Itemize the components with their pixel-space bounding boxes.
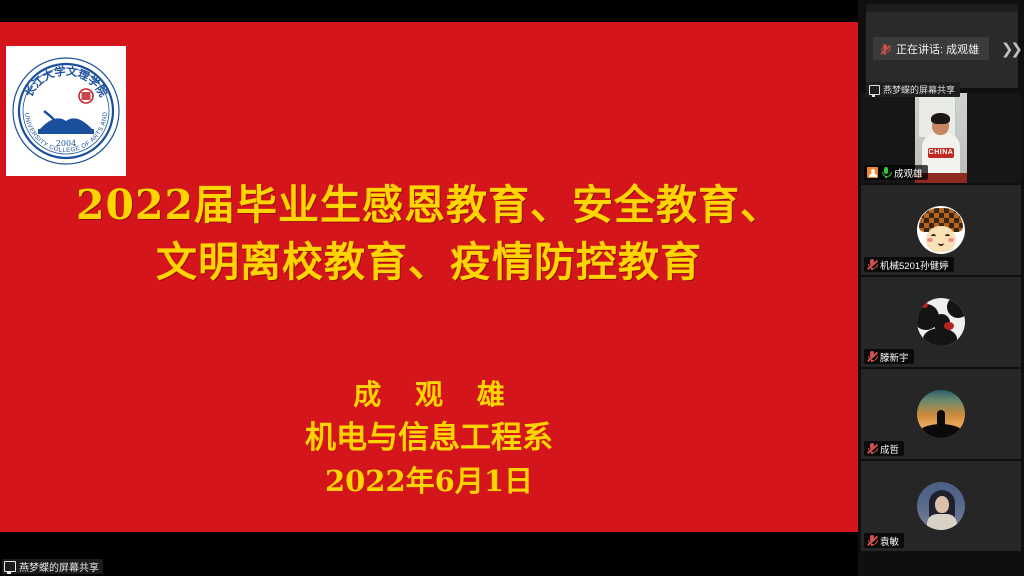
- participant-name-chip: 成观雄: [864, 165, 928, 180]
- participant-tile-yuanmin[interactable]: 袁敏: [861, 461, 1021, 551]
- mic-muted-icon: [880, 43, 890, 54]
- presentation-slide: 长江大学文理学院 YANGTZE UNIVERSITY COLLEGE OF A…: [0, 22, 858, 532]
- participant-name-label: 机械5201孙健婷: [880, 258, 949, 272]
- avatar: [917, 390, 965, 438]
- participant-tile-tengxinyu[interactable]: 滕新宇: [861, 277, 1021, 367]
- svg-text:2004: 2004: [56, 139, 76, 148]
- mic-muted-icon[interactable]: [867, 259, 877, 271]
- participant-name-label: 滕新宇: [880, 350, 909, 364]
- panel-screen-share-indicator[interactable]: 燕梦蝶的屏幕共享: [866, 82, 960, 97]
- slide-subtitle-block: 成 观 雄 机电与信息工程系 2022年6月1日: [0, 374, 858, 502]
- participant-name-chip: 成哲: [864, 441, 904, 456]
- participant-tile-sunjianting[interactable]: 机械5201孙健婷: [861, 185, 1021, 275]
- slide-title: 2022届毕业生感恩教育、安全教育、 文明离校教育、疫情防控教育: [0, 177, 858, 291]
- participant-name-label: 袁敏: [880, 534, 899, 548]
- mic-muted-icon[interactable]: [867, 443, 877, 455]
- monitor-share-icon: [4, 561, 16, 572]
- shared-screen-region[interactable]: 长江大学文理学院 YANGTZE UNIVERSITY COLLEGE OF A…: [0, 0, 858, 576]
- participant-tile-chengzhe[interactable]: 成哲: [861, 369, 1021, 459]
- participant-name-chip: 滕新宇: [864, 349, 914, 364]
- avatar: [917, 206, 965, 254]
- participant-name-label: 成哲: [880, 442, 899, 456]
- university-logo-svg: 长江大学文理学院 YANGTZE UNIVERSITY COLLEGE OF A…: [10, 51, 122, 171]
- participant-name-chip: 机械5201孙健婷: [864, 257, 954, 272]
- university-logo: 长江大学文理学院 YANGTZE UNIVERSITY COLLEGE OF A…: [6, 46, 126, 176]
- host-icon: [867, 167, 878, 178]
- panel-screen-share-label: 燕梦蝶的屏幕共享: [883, 83, 955, 96]
- slide-title-line-1: 2022届毕业生感恩教育、安全教育、: [0, 177, 858, 234]
- mic-on-icon[interactable]: [881, 167, 891, 179]
- monitor-share-icon: [869, 85, 880, 95]
- slide-title-line-2: 文明离校教育、疫情防控教育: [0, 234, 858, 291]
- share-bottom-bar: 燕梦蝶的屏幕共享: [0, 532, 858, 576]
- screen-share-label: 燕梦蝶的屏幕共享: [19, 559, 99, 574]
- slide-date: 2022年6月1日: [0, 460, 858, 502]
- participant-name-label: 成观雄: [894, 166, 923, 180]
- active-speaker-toast: 正在讲话: 成观雄: [873, 37, 989, 60]
- video-person-hair: [931, 113, 950, 124]
- video-shirt-text: CHINA: [928, 148, 954, 158]
- screen-share-indicator[interactable]: 燕梦蝶的屏幕共享: [2, 559, 103, 574]
- meeting-window: 长江大学文理学院 YANGTZE UNIVERSITY COLLEGE OF A…: [0, 0, 1024, 576]
- mic-muted-icon[interactable]: [867, 535, 877, 547]
- slide-presenter-name: 成 观 雄: [0, 374, 858, 416]
- slide-department: 机电与信息工程系: [0, 416, 858, 460]
- participant-name-chip: 袁敏: [864, 533, 904, 548]
- active-speaker-label: 正在讲话: 成观雄: [896, 41, 979, 57]
- avatar: [917, 298, 965, 346]
- chevron-double-right-icon[interactable]: ❯❯: [1001, 40, 1020, 58]
- participant-tile-chengguanxiong[interactable]: CHINA 成观雄: [861, 93, 1021, 183]
- avatar: [917, 482, 965, 530]
- mic-muted-icon[interactable]: [867, 351, 877, 363]
